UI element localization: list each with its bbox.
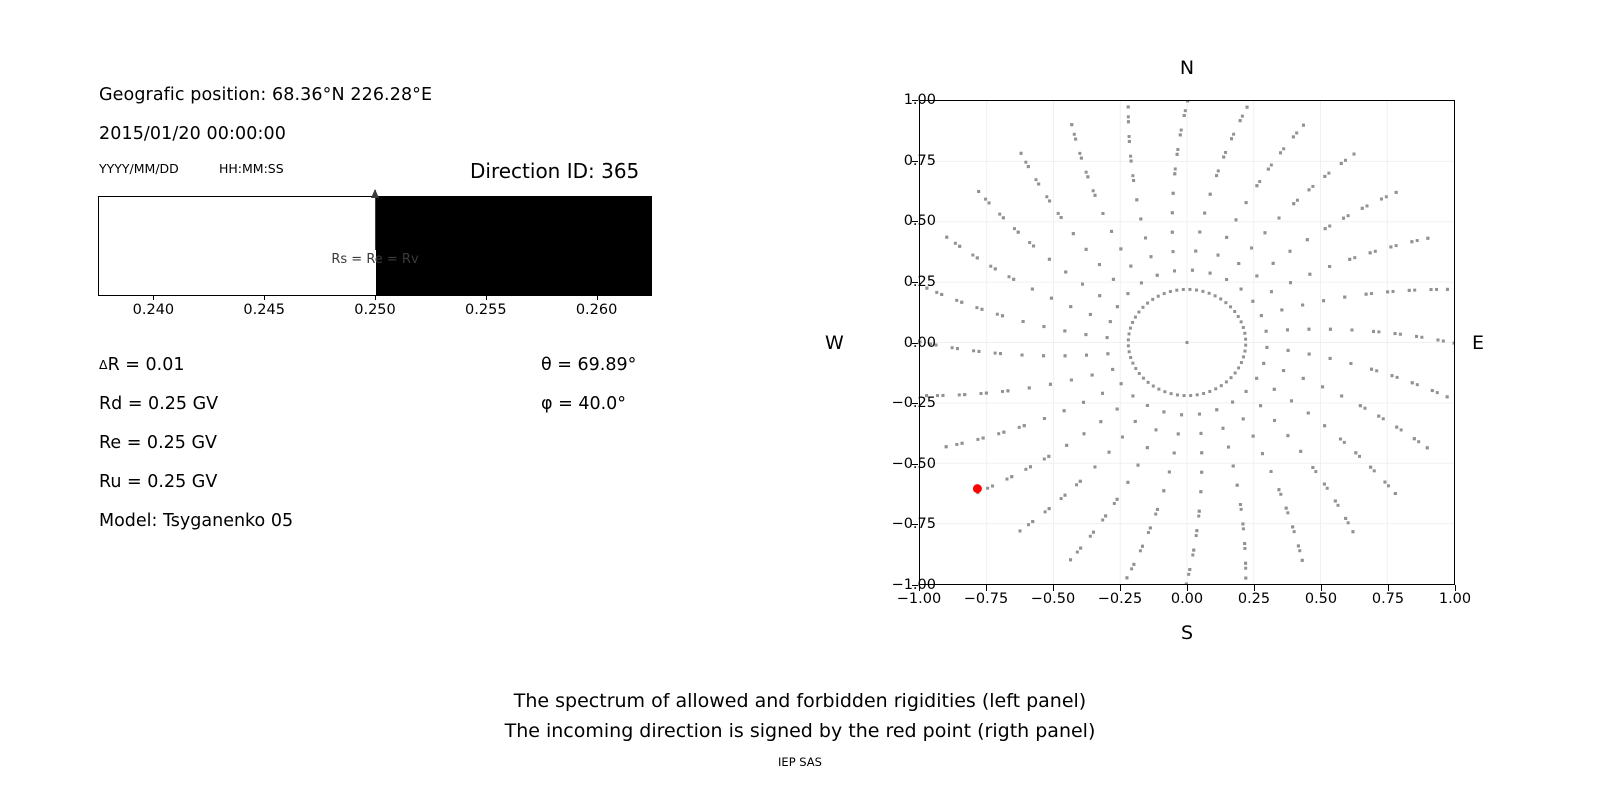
- delta-symbol: Δ: [99, 357, 108, 372]
- y-tick-label: −0.25: [892, 395, 936, 411]
- spectrum-tick-mark: [597, 296, 598, 300]
- x-tick-label: 0.25: [1238, 591, 1270, 607]
- spectrum-forbidden-region: [376, 197, 652, 295]
- figure-caption: The spectrum of allowed and forbidden ri…: [0, 686, 1600, 746]
- y-tick-label: 0.75: [904, 153, 936, 169]
- y-tick-label: 1.00: [904, 92, 936, 108]
- parameter-item: θ = 69.89°: [541, 355, 636, 375]
- compass-label-south: S: [1181, 622, 1193, 644]
- parameter-item: ΔR = 0.01: [99, 355, 184, 375]
- compass-label-east: E: [1472, 332, 1484, 354]
- x-tick-label: 0.50: [1305, 591, 1337, 607]
- datetime-label: 2015/01/20 00:00:00: [99, 124, 286, 144]
- rigidity-spectrum-panel: Geografic position: 68.36°N 226.28°E 201…: [0, 0, 760, 660]
- time-format-hint: HH:MM:SS: [219, 161, 284, 176]
- parameter-item: Re = 0.25 GV: [99, 433, 217, 453]
- spectrum-tick-label: 0.250: [354, 302, 396, 318]
- x-tick-label: −0.75: [964, 591, 1008, 607]
- rs-re-rv-label: Rs = Re = Rv: [331, 252, 418, 267]
- polar-scatter-plot: [919, 100, 1455, 585]
- incoming-direction-point: [973, 484, 982, 493]
- scatter-canvas: [920, 101, 1454, 584]
- spectrum-tick-mark: [486, 296, 487, 300]
- arrow-up-icon: [371, 189, 379, 198]
- compass-label-north: N: [1180, 57, 1194, 79]
- spectrum-tick-label: 0.260: [576, 302, 618, 318]
- incoming-direction-panel: N S W E −1.00−0.75−0.50−0.250.000.250.50…: [800, 0, 1600, 660]
- spectrum-tick-label: 0.245: [243, 302, 285, 318]
- date-format-hint: YYYY/MM/DD: [99, 161, 179, 176]
- y-tick-label: 0.50: [904, 213, 936, 229]
- geographic-position-label: Geografic position: 68.36°N 226.28°E: [99, 85, 432, 105]
- spectrum-tick-mark: [375, 296, 376, 300]
- spectrum-tick-mark: [153, 296, 154, 300]
- x-tick-label: 0.00: [1171, 591, 1203, 607]
- marker-arrow-shaft: [375, 190, 376, 250]
- spectrum-tick-mark: [264, 296, 265, 300]
- y-tick-label: 0.00: [904, 335, 936, 351]
- direction-id-label: Direction ID: 365: [470, 159, 639, 183]
- spectrum-tick-label: 0.255: [465, 302, 507, 318]
- y-tick-label: 0.25: [904, 274, 936, 290]
- x-tick-label: −1.00: [897, 591, 941, 607]
- x-tick-label: 1.00: [1439, 591, 1471, 607]
- parameter-item: φ = 40.0°: [541, 394, 626, 414]
- x-tick-label: 0.75: [1372, 591, 1404, 607]
- caption-line-1: The spectrum of allowed and forbidden ri…: [0, 686, 1600, 716]
- y-tick-label: −0.75: [892, 516, 936, 532]
- spectrum-tick-label: 0.240: [133, 302, 175, 318]
- x-tick-label: −0.50: [1031, 591, 1075, 607]
- x-tick-label: −0.25: [1098, 591, 1142, 607]
- spectrum-allowed-region: [99, 197, 376, 295]
- parameter-item: Rd = 0.25 GV: [99, 394, 218, 414]
- parameter-item: Model: Tsyganenko 05: [99, 511, 293, 531]
- institution-credit: IEP SAS: [0, 755, 1600, 769]
- spectrum-x-axis: 0.2400.2450.2500.2550.260: [98, 296, 652, 340]
- parameter-item: Ru = 0.25 GV: [99, 472, 217, 492]
- y-tick-label: −0.50: [892, 456, 936, 472]
- compass-label-west: W: [825, 332, 844, 354]
- caption-line-2: The incoming direction is signed by the …: [0, 716, 1600, 746]
